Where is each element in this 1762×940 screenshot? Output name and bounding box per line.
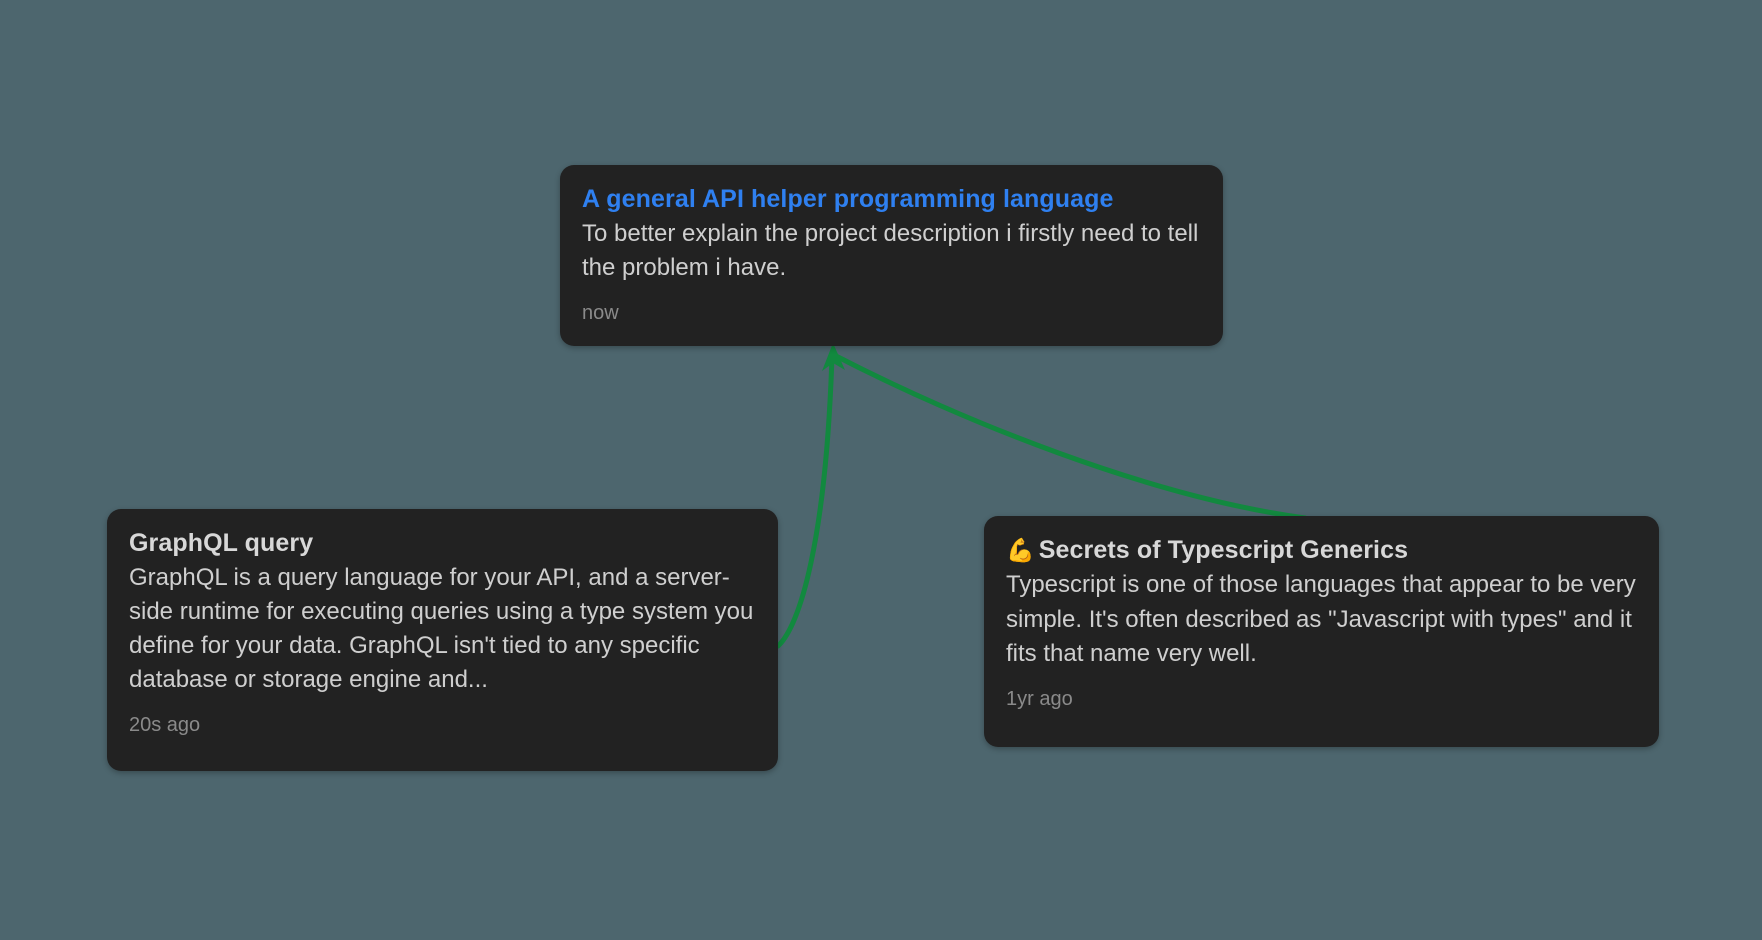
node-timestamp: now bbox=[582, 301, 1201, 325]
edge-graphql-to-root bbox=[778, 356, 832, 646]
node-title[interactable]: A general API helper programming languag… bbox=[582, 183, 1201, 215]
node-title: 💪Secrets of Typescript Generics bbox=[1006, 534, 1637, 566]
flexed-biceps-icon: 💪 bbox=[1006, 538, 1035, 564]
node-body: GraphQL is a query language for your API… bbox=[129, 561, 756, 697]
node-title-text: Secrets of Typescript Generics bbox=[1039, 536, 1408, 564]
node-timestamp: 1yr ago bbox=[1006, 687, 1637, 711]
edge-layer bbox=[0, 0, 1762, 940]
node-card-typescript[interactable]: 💪Secrets of Typescript Generics Typescri… bbox=[984, 516, 1659, 747]
edge-arrowhead-icon bbox=[822, 343, 845, 371]
node-timestamp: 20s ago bbox=[129, 713, 756, 737]
edge-typescript-to-root bbox=[836, 356, 1305, 518]
node-title: GraphQL query bbox=[129, 527, 756, 559]
node-body: Typescript is one of those languages tha… bbox=[1006, 568, 1637, 670]
node-card-graphql[interactable]: GraphQL query GraphQL is a query languag… bbox=[107, 509, 778, 771]
graph-canvas[interactable]: A general API helper programming languag… bbox=[0, 0, 1762, 940]
node-body: To better explain the project descriptio… bbox=[582, 217, 1201, 285]
node-card-root[interactable]: A general API helper programming languag… bbox=[560, 165, 1223, 346]
